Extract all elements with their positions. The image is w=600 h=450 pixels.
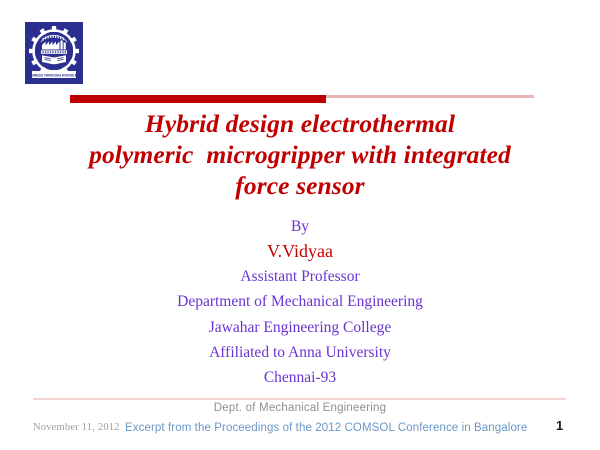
footer-date: November 11, 2012 — [33, 422, 120, 433]
footer-excerpt-notice: Excerpt from the Proceedings of the 2012… — [125, 422, 527, 434]
affiliation-line-university: Affiliated to Anna University — [40, 345, 560, 361]
slide-title: Hybrid design electrothermal polymeric m… — [28, 108, 572, 201]
page-number: 1 — [556, 418, 563, 433]
affiliation-line-city: Chennai-93 — [40, 370, 560, 386]
affiliation-line-college: Jawahar Engineering College — [40, 320, 560, 336]
affiliation-line-designation: Assistant Professor — [40, 269, 560, 285]
author-name: V.Vidyaa — [40, 242, 560, 261]
author-block: By V.Vidyaa Assistant Professor Departme… — [40, 219, 560, 386]
presentation-slide: PROGRESS THROUGH KNOWLEDGE Hybrid design… — [0, 0, 600, 450]
college-emblem-icon: PROGRESS THROUGH KNOWLEDGE — [25, 22, 83, 84]
emblem-banner-text: PROGRESS THROUGH KNOWLEDGE — [25, 73, 83, 77]
header-rule-thick — [70, 95, 326, 103]
footer-department: Dept. of Mechanical Engineering — [0, 402, 600, 414]
affiliation-line-department: Department of Mechanical Engineering — [40, 294, 560, 310]
footer-divider — [33, 398, 566, 400]
by-label: By — [40, 219, 560, 235]
